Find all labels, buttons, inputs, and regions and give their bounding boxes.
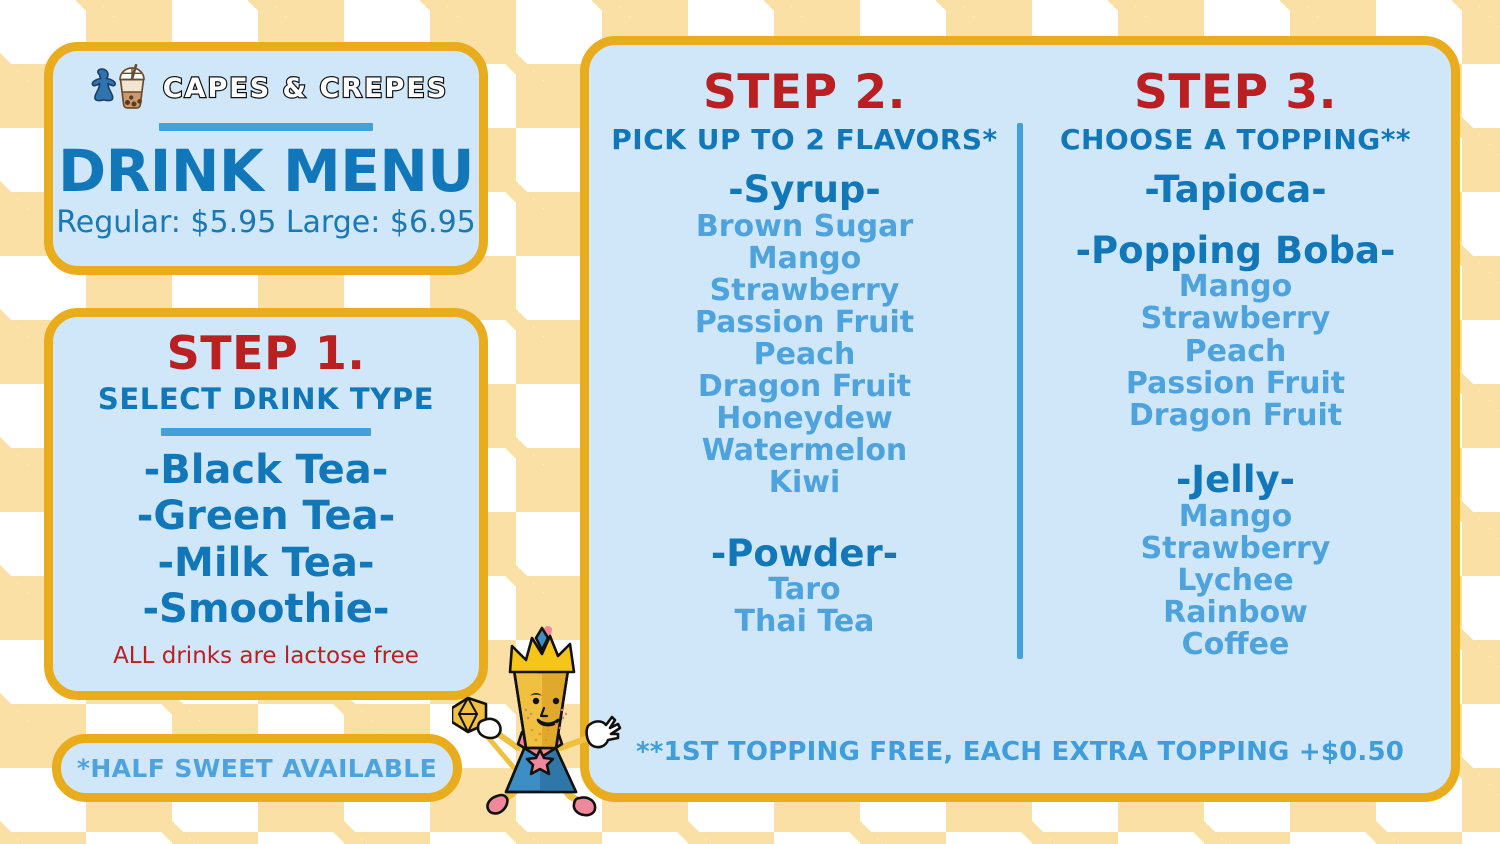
list-item[interactable]: -Green Tea- [137, 493, 396, 539]
price-line: Regular: $5.95 Large: $6.95 [56, 205, 476, 240]
half-sweet-note: *HALF SWEET AVAILABLE [77, 754, 437, 783]
step2-label: STEP 2. [703, 69, 906, 116]
group-title: -Jelly- [1176, 460, 1295, 501]
list-item[interactable]: Mango [1179, 501, 1293, 533]
topping-note: **1ST TOPPING FREE, EACH EXTRA TOPPING +… [589, 737, 1451, 793]
step1-drink-list: -Black Tea- -Green Tea- -Milk Tea- -Smoo… [137, 447, 396, 633]
step3-group-jelly: -Jelly- Mango Strawberry Lychee Rainbow … [1141, 460, 1331, 661]
brand-header-card: CAPES & CREPES DRINK MENU Regular: $5.95… [44, 42, 488, 275]
list-item[interactable]: Mango [748, 243, 862, 275]
group-title: -Popping Boba- [1076, 231, 1396, 272]
column-divider [1017, 123, 1023, 659]
brand-name: CAPES & CREPES [163, 75, 448, 102]
meeple-boba-logo-icon [84, 63, 154, 113]
list-item[interactable]: Lychee [1177, 565, 1293, 597]
step2-subtitle: PICK UP TO 2 FLAVORS* [611, 126, 997, 154]
list-item[interactable]: Passion Fruit [695, 307, 914, 339]
header-divider [159, 123, 373, 131]
step1-card: STEP 1. SELECT DRINK TYPE -Black Tea- -G… [44, 308, 488, 700]
list-item[interactable]: -Milk Tea- [157, 540, 374, 586]
list-item[interactable]: Kiwi [769, 467, 841, 499]
step2-group-powder: -Powder- Taro Thai Tea [711, 534, 898, 639]
half-sweet-note-card: *HALF SWEET AVAILABLE [52, 734, 462, 802]
steps-columns: STEP 2. PICK UP TO 2 FLAVORS* -Syrup- Br… [589, 45, 1451, 737]
list-item[interactable]: -Black Tea- [144, 447, 389, 493]
brand-row: CAPES & CREPES [84, 62, 448, 114]
list-item[interactable]: Peach [754, 339, 856, 371]
step1-divider [161, 428, 371, 436]
list-item[interactable]: Strawberry [710, 275, 900, 307]
step3-column: STEP 3. CHOOSE A TOPPING** -Tapioca- -Po… [1020, 69, 1451, 737]
list-item[interactable]: Coffee [1182, 629, 1290, 661]
group-title[interactable]: -Tapioca- [1144, 170, 1326, 211]
lactose-note: ALL drinks are lactose free [113, 643, 419, 669]
list-item[interactable]: Strawberry [1141, 533, 1331, 565]
list-item[interactable]: Brown Sugar [696, 211, 913, 243]
list-item[interactable]: Strawberry [1141, 303, 1331, 335]
step2-group-syrup: -Syrup- Brown Sugar Mango Strawberry Pas… [695, 170, 914, 500]
step1-subtitle: SELECT DRINK TYPE [98, 385, 434, 414]
list-item[interactable]: Peach [1185, 336, 1287, 368]
menu-poster: CAPES & CREPES DRINK MENU Regular: $5.95… [0, 0, 1500, 844]
list-item[interactable]: Taro [768, 574, 840, 606]
list-item[interactable]: Dragon Fruit [1129, 400, 1342, 432]
step3-subtitle: CHOOSE A TOPPING** [1060, 126, 1411, 154]
list-item[interactable]: Watermelon [702, 435, 908, 467]
list-item[interactable]: -Smoothie- [142, 586, 389, 632]
list-item[interactable]: Thai Tea [735, 606, 875, 638]
list-item[interactable]: Passion Fruit [1126, 368, 1345, 400]
step2-column: STEP 2. PICK UP TO 2 FLAVORS* -Syrup- Br… [589, 69, 1020, 737]
page-title: DRINK MENU [58, 141, 474, 202]
list-item[interactable]: Rainbow [1163, 597, 1308, 629]
step3-group-tapioca: -Tapioca- [1144, 170, 1326, 211]
steps-card: STEP 2. PICK UP TO 2 FLAVORS* -Syrup- Br… [580, 36, 1460, 802]
group-title: -Powder- [711, 534, 898, 575]
list-item[interactable]: Honeydew [716, 403, 893, 435]
step1-label: STEP 1. [167, 330, 366, 376]
group-title: -Syrup- [728, 170, 881, 211]
list-item[interactable]: Dragon Fruit [698, 371, 911, 403]
step3-label: STEP 3. [1134, 69, 1337, 116]
list-item[interactable]: Mango [1179, 271, 1293, 303]
step3-group-popping-boba: -Popping Boba- Mango Strawberry Peach Pa… [1076, 231, 1396, 432]
